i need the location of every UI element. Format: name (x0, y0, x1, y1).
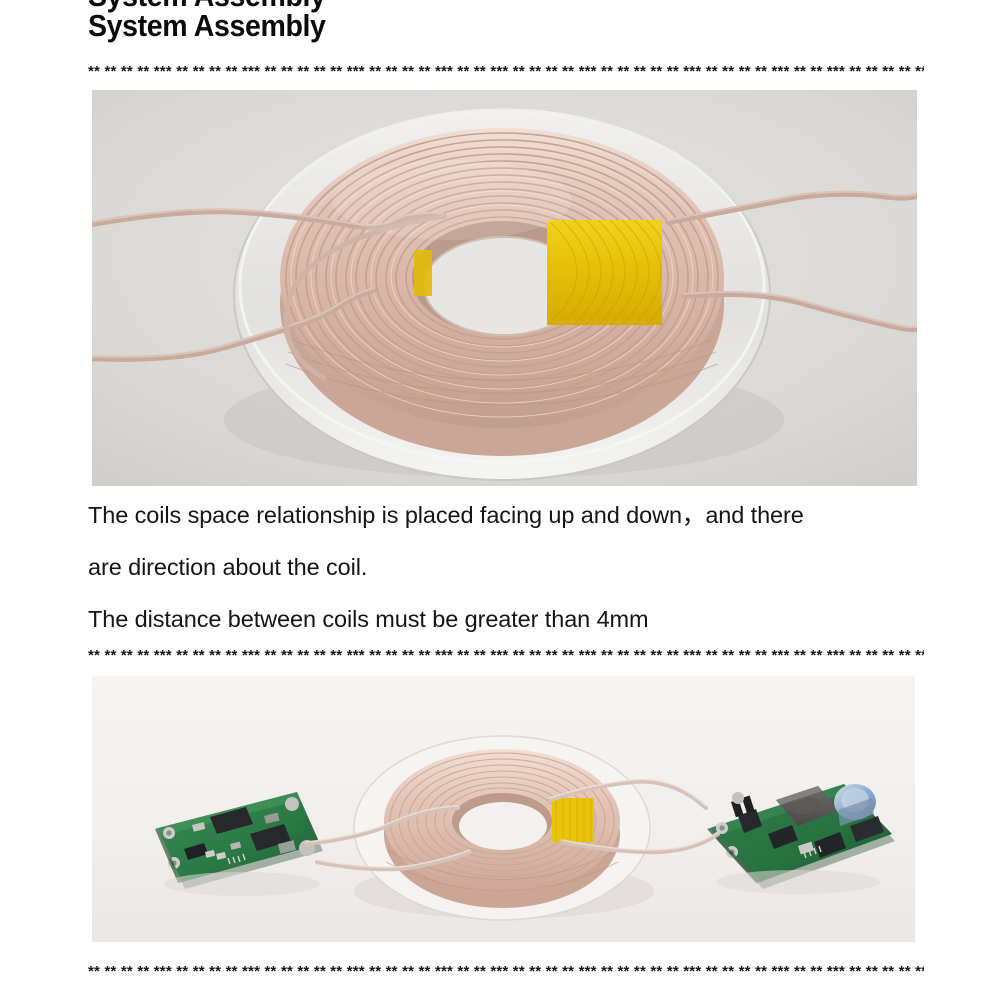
figure-system-assembly (92, 676, 915, 942)
paragraph-coils-space-line1: The coils space relationship is placed f… (88, 500, 938, 530)
paragraph-coil-distance: The distance between coils must be great… (88, 604, 938, 634)
figure-coil-closeup (92, 90, 917, 486)
page-title: System Assembly (88, 7, 326, 45)
separator-middle: ** ** ** ** *** ** ** ** ** *** ** ** **… (88, 648, 924, 664)
coil-closeup-illustration (92, 90, 917, 486)
paragraph-coils-space-line2: are direction about the coil. (88, 552, 938, 582)
system-assembly-illustration (92, 676, 915, 942)
document-page: System Assembly System Assembly ** ** **… (0, 0, 1000, 1000)
separator-top: ** ** ** ** *** ** ** ** ** *** ** ** **… (88, 64, 924, 80)
separator-bottom: ** ** ** ** *** ** ** ** ** *** ** ** **… (88, 964, 924, 980)
